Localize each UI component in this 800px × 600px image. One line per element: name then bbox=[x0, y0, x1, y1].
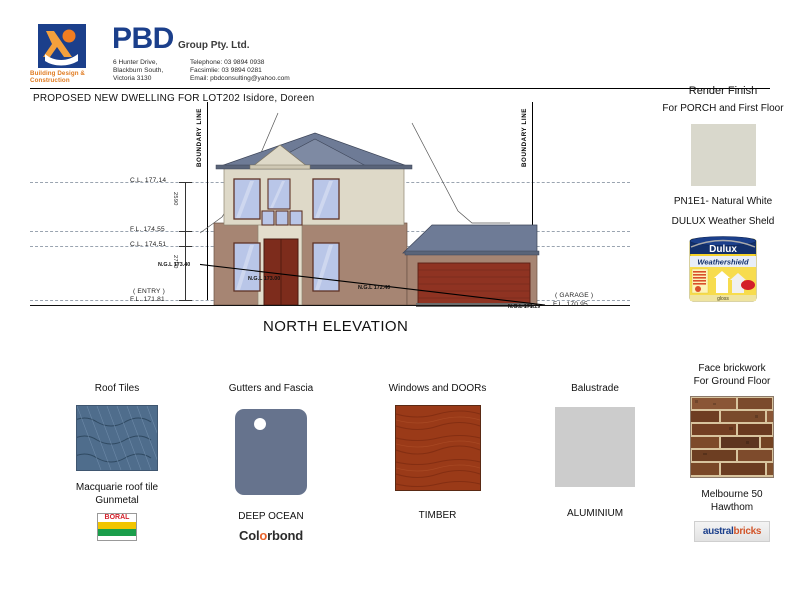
material-windows-doors-caption: TIMBER bbox=[375, 509, 500, 522]
material-roof-tiles-caption-1: Macquarie roof tile bbox=[62, 481, 172, 494]
material-face-brickwork-title-1: Face brickwork bbox=[668, 362, 796, 375]
address-line-1: 6 Hunter Drive, bbox=[113, 59, 163, 67]
pbd-logo-icon bbox=[38, 24, 86, 68]
render-finish-panel: Render Finish For PORCH and First Floor … bbox=[648, 85, 798, 305]
brand-suffix: Group Pty. Ltd. bbox=[178, 40, 249, 51]
north-elevation-drawing: C.L. 177.14 F.L. 174.55 C.L. 174.51 ( EN… bbox=[0, 100, 660, 340]
logo-tagline: Building Design & Construction bbox=[30, 70, 94, 84]
telephone-line: Telephone: 03 9894 0938 bbox=[190, 59, 290, 67]
garage-note: ( GARAGE ) bbox=[555, 292, 593, 299]
svg-text:gloss: gloss bbox=[717, 296, 729, 302]
email-line: Email: pbdconsulting@yahoo.com bbox=[190, 75, 290, 83]
material-gutters-fascia: Gutters and Fascia DEEP OCEAN Colorbond bbox=[212, 382, 330, 543]
dim-tick-bottom bbox=[179, 300, 192, 301]
material-gutters-fascia-title: Gutters and Fascia bbox=[212, 382, 330, 395]
dim-tick-mid-1 bbox=[179, 231, 192, 232]
colorbond-logo-icon: Colorbond bbox=[212, 528, 330, 543]
level-label-entry-note: ( ENTRY ) bbox=[133, 288, 165, 295]
material-roof-tiles-swatch bbox=[76, 405, 158, 471]
svg-text:Weathershield: Weathershield bbox=[697, 258, 749, 267]
brand-name: PBD bbox=[112, 24, 174, 54]
dimension-chain bbox=[185, 182, 186, 300]
render-finish-subtitle: For PORCH and First Floor bbox=[648, 103, 798, 114]
boral-wordmark: BORAL bbox=[98, 514, 136, 522]
render-finish-code: PN1E1- Natural White bbox=[648, 196, 798, 207]
material-windows-doors: Windows and DOORs TIMBER bbox=[375, 382, 500, 522]
material-face-brickwork-title-2: For Ground Floor bbox=[668, 375, 796, 388]
company-contact: Telephone: 03 9894 0938 Facsimlie: 03 98… bbox=[190, 59, 290, 84]
material-roof-tiles-caption-2: Gunmetal bbox=[62, 494, 172, 507]
address-line-2: Blackburn South, bbox=[113, 67, 163, 75]
dim-tick-mid-2 bbox=[179, 246, 192, 247]
material-face-brickwork-swatch bbox=[690, 396, 774, 478]
ngl-label-172-40: N.G.L 172.40 bbox=[358, 285, 390, 291]
material-face-brickwork-caption-1: Melbourne 50 bbox=[668, 488, 796, 501]
material-face-brickwork-caption-2: Hawthom bbox=[668, 501, 796, 514]
material-windows-doors-title: Windows and DOORs bbox=[375, 382, 500, 395]
ngl-label-171-29: N.G.L 171.29 bbox=[508, 304, 540, 310]
material-balustrade-title: Balustrade bbox=[540, 382, 650, 395]
render-finish-title: Render Finish bbox=[648, 85, 798, 97]
company-address: 6 Hunter Drive, Blackburn South, Victori… bbox=[113, 59, 163, 84]
dim-tick-top bbox=[179, 182, 192, 183]
address-line-3: Victoria 3130 bbox=[113, 75, 163, 83]
australbricks-logo-icon: australbricks bbox=[694, 521, 770, 542]
ngl-label-173-00: N.G.L 173.00 bbox=[248, 276, 280, 282]
material-roof-tiles-title: Roof Tiles bbox=[62, 382, 172, 395]
level-label-fl-174: F.L. 174.55 bbox=[130, 226, 165, 233]
render-finish-brand: DULUX Weather Sheld bbox=[648, 216, 798, 227]
dulux-paint-can-image: Dulux Weathershield glos bbox=[684, 233, 762, 305]
render-finish-swatch bbox=[691, 124, 756, 186]
material-roof-tiles: Roof Tiles Macquarie roof tile Gunmetal bbox=[62, 382, 172, 541]
boral-band-green bbox=[98, 529, 136, 536]
facsimile-line: Facsimlie: 03 9894 0281 bbox=[190, 67, 290, 75]
dim-value-2590: 2590 bbox=[172, 192, 178, 206]
elevation-title: NORTH ELEVATION bbox=[263, 318, 408, 335]
material-gutters-fascia-caption: DEEP OCEAN bbox=[212, 510, 330, 523]
material-balustrade-caption: ALUMINIUM bbox=[540, 507, 650, 520]
material-gutters-fascia-swatch bbox=[235, 409, 307, 495]
material-balustrade-swatch bbox=[555, 407, 635, 487]
material-balustrade: Balustrade ALUMINIUM bbox=[540, 382, 650, 520]
title-block: Building Design & Construction PBD Group… bbox=[30, 18, 770, 90]
ngl-label-173-40: N.G.L 173.40 bbox=[158, 262, 190, 268]
boral-logo-icon: BORAL bbox=[97, 513, 137, 541]
boral-band-yellow bbox=[98, 522, 136, 529]
house-elevation-graphic bbox=[200, 105, 560, 315]
material-face-brickwork: Face brickwork For Ground Floor bbox=[668, 362, 796, 542]
svg-text:Dulux: Dulux bbox=[709, 244, 737, 255]
level-label-cl-177: C.L. 177.14 bbox=[130, 177, 166, 184]
garage-floor-level: F.L. 170.95 bbox=[553, 301, 588, 308]
level-label-cl-174: C.L. 174.51 bbox=[130, 241, 166, 248]
level-label-fl-171: F.L. 171.81 bbox=[130, 296, 165, 303]
material-windows-doors-swatch bbox=[395, 405, 481, 491]
